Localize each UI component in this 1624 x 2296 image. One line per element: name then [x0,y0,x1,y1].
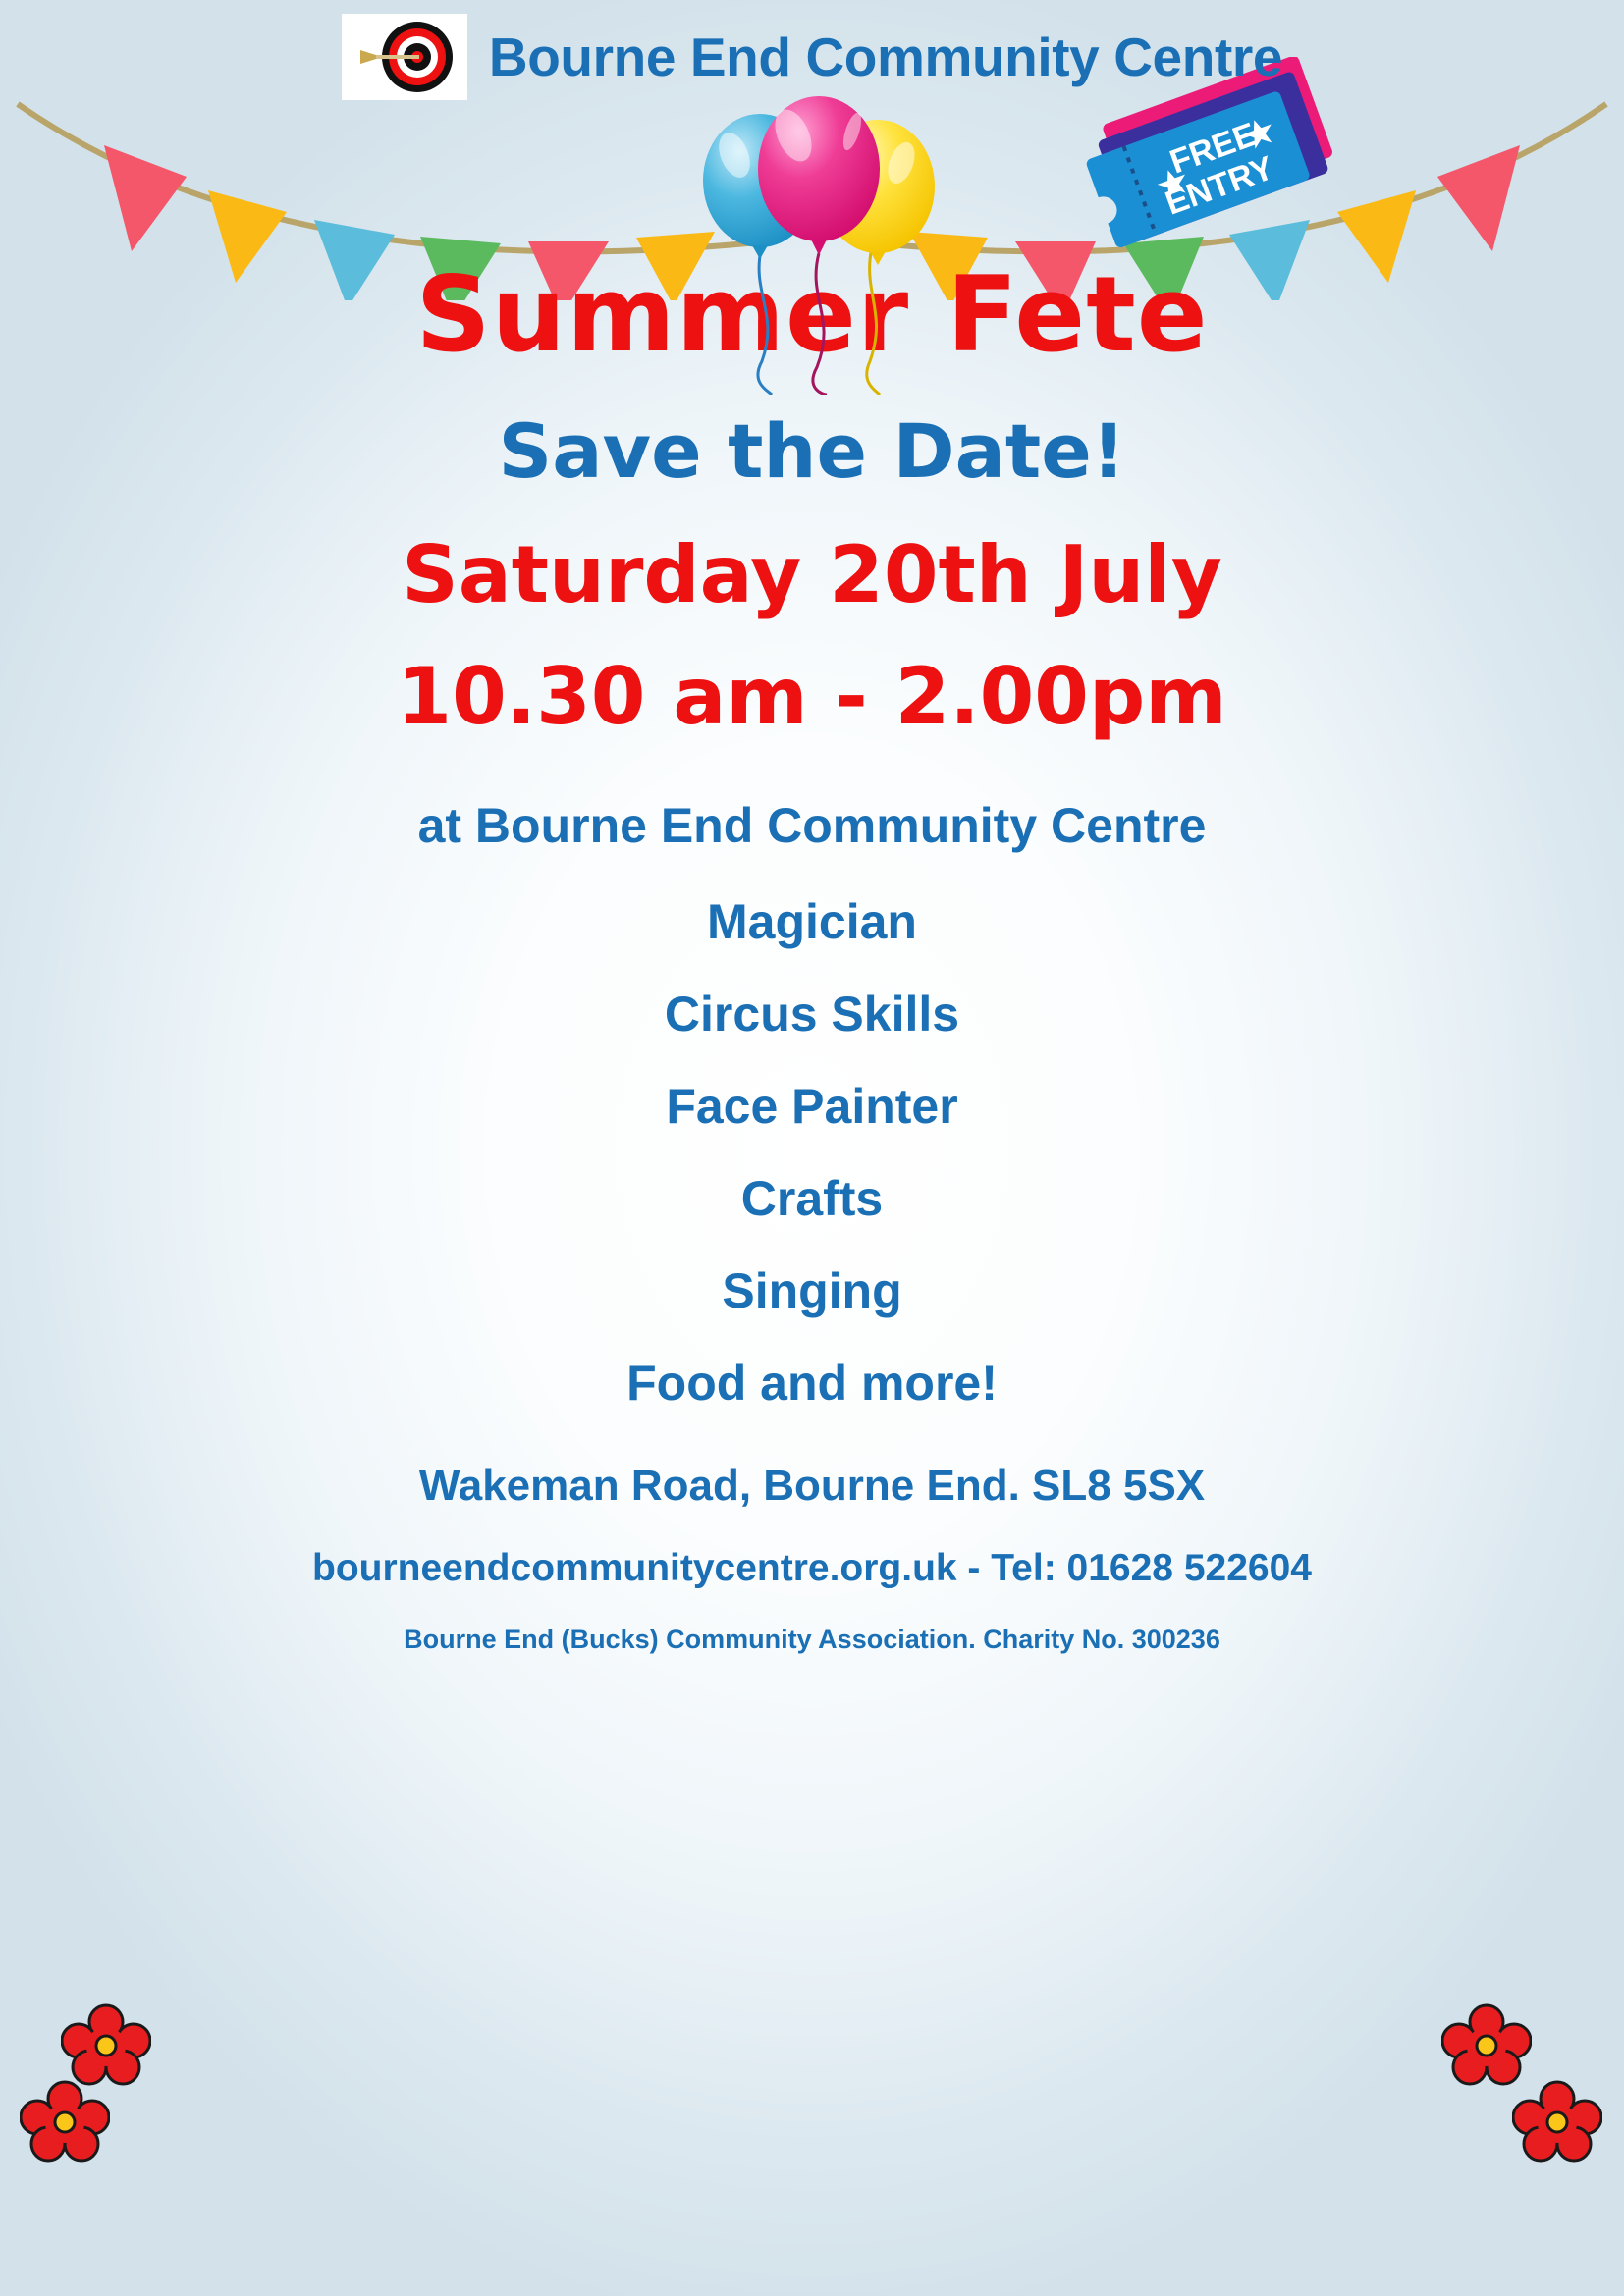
event-time: 10.30 am - 2.00pm [0,658,1624,736]
list-item: Face Painter [0,1082,1624,1131]
event-date: Saturday 20th July [0,536,1624,614]
list-item: Crafts [0,1174,1624,1223]
flower-icon [20,2079,110,2168]
contact-line[interactable]: bourneendcommunitycentre.org.uk - Tel: 0… [0,1549,1624,1587]
list-item: Singing [0,1266,1624,1315]
charity-line: Bourne End (Bucks) Community Association… [0,1627,1624,1653]
archery-target-icon [342,14,467,100]
poster-canvas: Bourne End Community Centre [0,0,1624,2296]
poster-body: Summer Fete Save the Date! Saturday 20th… [0,257,1624,1653]
page-title: Bourne End Community Centre [489,26,1282,88]
list-item: Circus Skills [0,989,1624,1039]
venue-line: at Bourne End Community Centre [0,801,1624,850]
balloons-icon [677,71,972,400]
activities-list: Magician Circus Skills Face Painter Craf… [0,897,1624,1408]
address-line: Wakeman Road, Bourne End. SL8 5SX [0,1465,1624,1508]
poster-header: Bourne End Community Centre [0,8,1624,106]
flower-icon [1512,2079,1602,2168]
list-item: Magician [0,897,1624,946]
list-item: Food and more! [0,1359,1624,1408]
save-the-date-text: Save the Date! [0,414,1624,489]
